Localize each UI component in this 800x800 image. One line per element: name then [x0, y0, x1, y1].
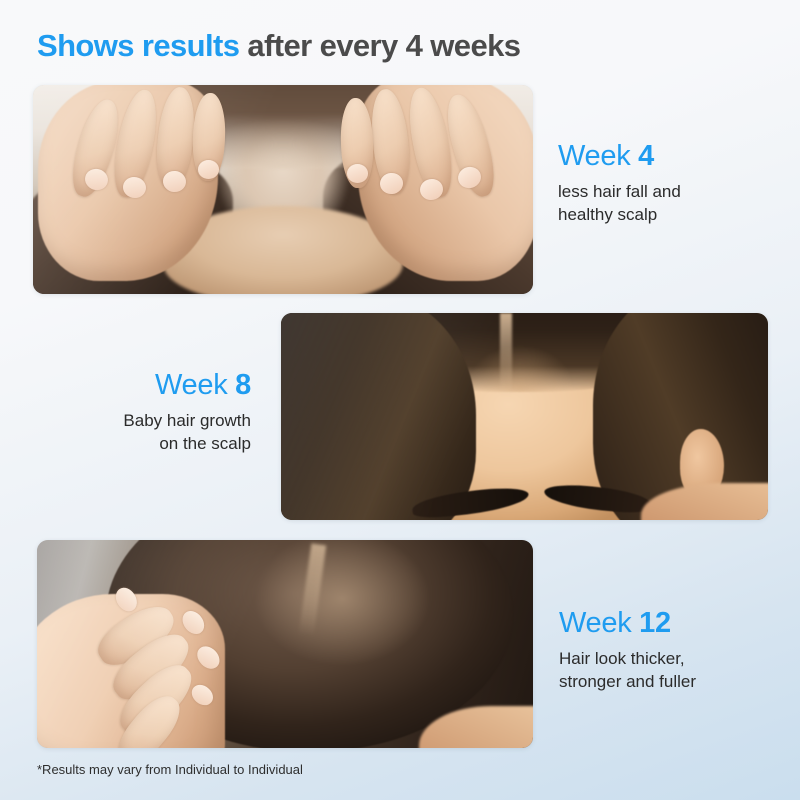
week-8-description-line-2: on the scalp: [57, 432, 251, 455]
week-12-description-line-2: stronger and fuller: [559, 670, 696, 693]
week-8-description: Baby hair growth on the scalp: [57, 409, 251, 456]
week-4-word: Week: [558, 140, 630, 172]
week-12-title: Week 12: [559, 608, 696, 640]
week-12-description: Hair look thicker, stronger and fuller: [559, 647, 696, 694]
hair-mass-left: [281, 313, 476, 520]
week-8-number: 8: [235, 369, 251, 401]
left-nail-4: [198, 160, 219, 179]
week-4-description: less hair fall and healthy scalp: [558, 180, 681, 227]
week-4-number: 4: [638, 140, 654, 172]
week-4-title: Week 4: [558, 141, 681, 173]
page-title-rest: after every 4 weeks: [239, 28, 520, 63]
week-12-number: 12: [639, 607, 671, 639]
disclaimer-footnote: *Results may vary from Individual to Ind…: [37, 762, 303, 777]
week-8-photo: [281, 313, 768, 520]
week-12-photo: [37, 540, 533, 748]
week-4-photo-content: [33, 85, 533, 294]
week-8-caption: Week 8 Baby hair growth on the scalp: [57, 370, 251, 456]
week-8-word: Week: [155, 369, 227, 401]
week-12-description-line-1: Hair look thicker,: [559, 647, 696, 670]
week-4-photo: [33, 85, 533, 294]
page-title: Shows results after every 4 weeks: [37, 28, 520, 64]
page-title-highlight: Shows results: [37, 28, 239, 63]
week-4-caption: Week 4 less hair fall and healthy scalp: [558, 141, 681, 227]
week-12-caption: Week 12 Hair look thicker, stronger and …: [559, 608, 696, 694]
week-8-photo-content: [281, 313, 768, 520]
week-4-description-line-2: healthy scalp: [558, 203, 681, 226]
week-12-word: Week: [559, 607, 631, 639]
week-4-description-line-1: less hair fall and: [558, 180, 681, 203]
week-8-description-line-1: Baby hair growth: [57, 409, 251, 432]
week-8-title: Week 8: [57, 370, 251, 402]
hair-part-line: [500, 313, 512, 396]
week-12-photo-content: [37, 540, 533, 748]
